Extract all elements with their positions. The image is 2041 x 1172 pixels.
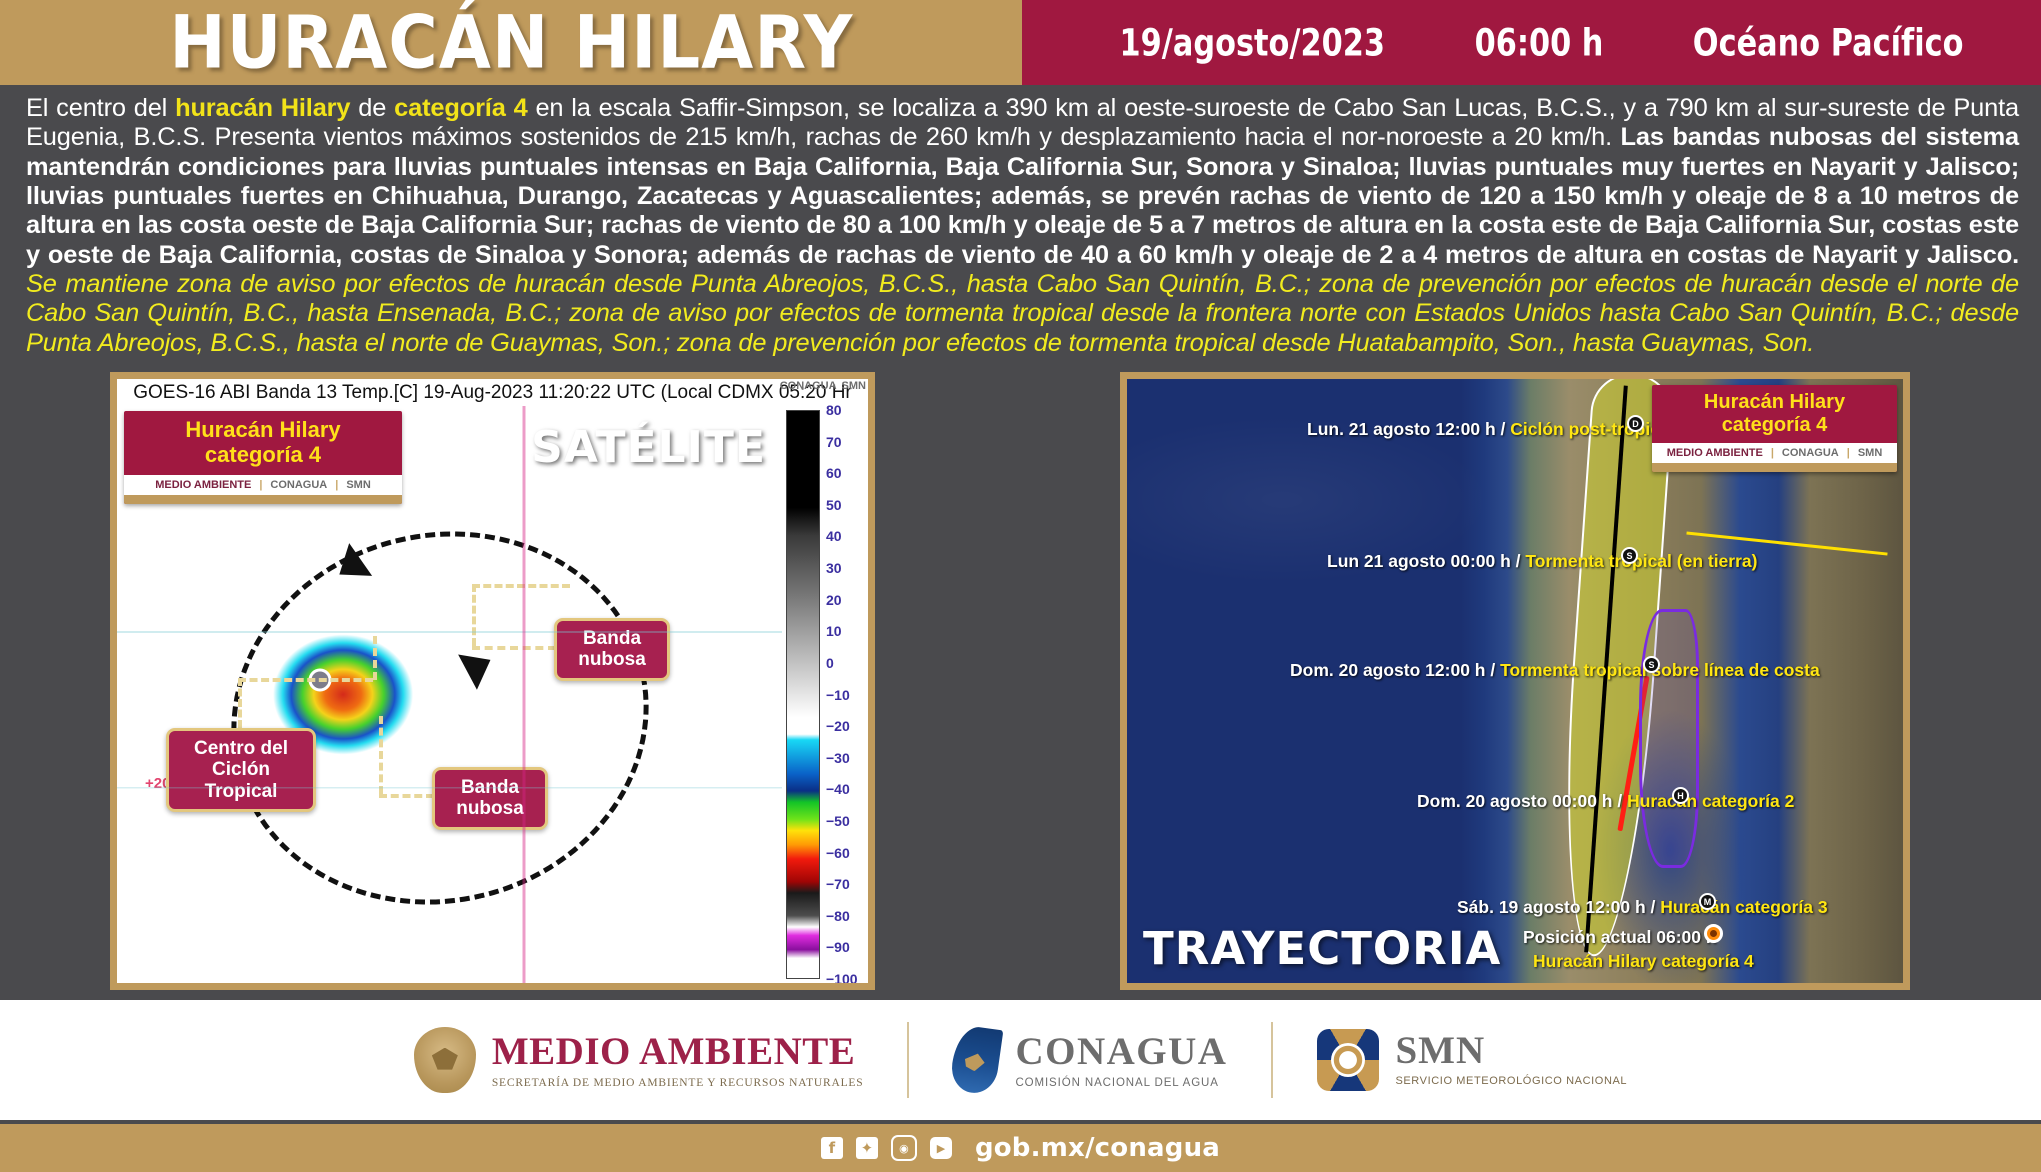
colorbar-tick: 50 — [826, 497, 842, 513]
current-position-label: Posición actual 06:00 h — [1523, 927, 1717, 948]
forecast-marker-3[interactable]: H — [1672, 787, 1689, 804]
bulletin-category: categoría 4 — [394, 94, 527, 122]
traj-badge-divider-1: | — [1771, 447, 1774, 459]
satellite-badge-line2: categoría 4 — [128, 443, 398, 468]
colorbar-tick: 0 — [826, 655, 834, 671]
colorbar-tick: −70 — [826, 876, 850, 892]
forecast-status-1: Tormenta tropical (en tierra) — [1525, 551, 1757, 571]
forecast-status-3: Huracán categoría 2 — [1627, 791, 1794, 811]
satellite-badge-line1: Huracán Hilary — [128, 418, 398, 443]
traj-badge-logo-smn: SMN — [1858, 447, 1882, 459]
colorbar-tick: −40 — [826, 781, 850, 797]
leader-centro-vertical — [238, 678, 242, 728]
smn-title: SMN — [1395, 1031, 1627, 1070]
website-url[interactable]: gob.mx/conagua — [975, 1133, 1220, 1163]
temperature-colorbar: 80706050403020100−10−20−30−40−50−60−70−8… — [782, 406, 868, 983]
bulletin-warning-zones: Se mantiene zona de aviso por efectos de… — [26, 270, 2019, 357]
forecast-time-3: Dom. 20 agosto 00:00 h / — [1417, 791, 1627, 811]
satellite-title-text: GOES-16 ABI Banda 13 Temp.[C] 19-Aug-202… — [133, 382, 852, 404]
leader-centro-riser — [373, 636, 377, 680]
badge-footer-strip — [124, 495, 402, 504]
header-basin: Océano Pacífico — [1692, 21, 1963, 65]
colorbar-tick: 20 — [826, 592, 842, 608]
current-position-status: Huracán Hilary categoría 4 — [1533, 951, 1754, 971]
forecast-time-1: Lun 21 agosto 00:00 h / — [1327, 551, 1525, 571]
bulletin-intro: El centro del — [26, 94, 175, 122]
youtube-icon[interactable]: ▶ — [930, 1137, 952, 1159]
logo-divider-1 — [907, 1022, 909, 1098]
warning-zone-purple — [1639, 609, 1699, 869]
smn-spiral-icon — [1317, 1029, 1379, 1091]
badge-logo-divider-2: | — [335, 479, 338, 491]
conagua-small-logo: CONAGUA — [780, 380, 837, 392]
callout-cyclone-center: Centro del Ciclón Tropical — [166, 728, 316, 812]
colorbar-tick: 30 — [826, 560, 842, 576]
conagua-title: CONAGUA — [1015, 1032, 1227, 1071]
satellite-titlebar: GOES-16 ABI Banda 13 Temp.[C] 19-Aug-202… — [117, 379, 868, 406]
forecast-marker-1[interactable]: S — [1621, 547, 1638, 564]
twitter-icon[interactable]: ✦ — [856, 1137, 878, 1159]
header-date: 19/agosto/2023 — [1120, 21, 1385, 65]
satellite-badge-logos: MEDIO AMBIENTE | CONAGUA | SMN — [124, 475, 402, 495]
medio-ambiente-title: MEDIO AMBIENTE — [492, 1032, 864, 1071]
traj-badge-divider-2: | — [1847, 447, 1850, 459]
traj-badge-logo-conagua: CONAGUA — [1782, 447, 1839, 459]
colorbar-tick: −10 — [826, 687, 850, 703]
header-time: 06:00 h — [1474, 21, 1603, 65]
satellite-ir-image[interactable]: SATÉLITE +20° Centro del Ciclón Tropical… — [117, 406, 782, 983]
forecast-label-2: Dom. 20 agosto 12:00 h / Tormenta tropic… — [1290, 660, 1820, 681]
traj-badge-footer-strip — [1652, 463, 1897, 472]
leader-banda1-left — [472, 584, 476, 646]
satellite-badge-text: Huracán Hilary categoría 4 — [124, 411, 402, 475]
traj-badge-logo-medio-ambiente: MEDIO AMBIENTE — [1667, 447, 1763, 459]
satellite-storm-badge: Huracán Hilary categoría 4 MEDIO AMBIENT… — [124, 411, 402, 504]
satellite-watermark: SATÉLITE — [531, 422, 766, 473]
colorbar-tick: −100 — [826, 971, 858, 987]
page-header: HURACÁN HILARY 19/agosto/2023 06:00 h Oc… — [0, 0, 2041, 85]
logo-conagua: CONAGUA COMISIÓN NACIONAL DEL AGUA — [953, 1027, 1227, 1093]
leader-banda2-bottom — [379, 794, 434, 798]
badge-logo-divider-1: | — [259, 479, 262, 491]
trajectory-storm-badge: Huracán Hilary categoría 4 MEDIO AMBIENT… — [1652, 385, 1897, 472]
satellite-corner-logos: CONAGUA SMN — [780, 380, 866, 392]
conagua-text: CONAGUA COMISIÓN NACIONAL DEL AGUA — [1015, 1032, 1227, 1089]
colorbar-tick: −30 — [826, 750, 850, 766]
current-position-status-label: Huracán Hilary categoría 4 — [1533, 951, 1754, 972]
colorbar-tick: 60 — [826, 465, 842, 481]
logo-smn: SMN SERVICIO METEOROLÓGICO NACIONAL — [1317, 1029, 1627, 1091]
colorbar-tick: 70 — [826, 434, 842, 450]
bulletin-text: El centro del huracán Hilary de categorí… — [0, 85, 2041, 362]
callout-cloud-band-2: Banda nubosa — [432, 767, 548, 830]
smn-small-logo: SMN — [842, 380, 866, 392]
colorbar-tick: −90 — [826, 939, 850, 955]
satellite-panel[interactable]: GOES-16 ABI Banda 13 Temp.[C] 19-Aug-202… — [110, 372, 875, 990]
social-bottom-bar: f ✦ ◉ ▶ gob.mx/conagua — [0, 1124, 2041, 1172]
medio-ambiente-text: MEDIO AMBIENTE SECRETARÍA DE MEDIO AMBIE… — [492, 1032, 864, 1089]
facebook-icon[interactable]: f — [821, 1137, 843, 1159]
satellite-body: SATÉLITE +20° Centro del Ciclón Tropical… — [117, 406, 868, 983]
page-title: HURACÁN HILARY — [169, 0, 853, 85]
forecast-marker-4[interactable]: M — [1699, 893, 1716, 910]
current-position-time: Posición actual 06:00 h — [1523, 927, 1717, 947]
trajectory-badge-line1: Huracán Hilary — [1656, 391, 1893, 414]
conagua-eagle-water-icon — [949, 1024, 1004, 1096]
current-position-marker[interactable] — [1704, 924, 1723, 943]
panels-row: GOES-16 ABI Banda 13 Temp.[C] 19-Aug-202… — [0, 372, 2041, 992]
callout-cloud-band-1: Banda nubosa — [554, 618, 670, 681]
colorbar-tick: 80 — [826, 402, 842, 418]
forecast-status-4: Huracán categoría 3 — [1660, 897, 1827, 917]
colorbar-tick: −60 — [826, 845, 850, 861]
forecast-marker-2[interactable]: S — [1643, 656, 1660, 673]
mexico-coat-of-arms-icon — [414, 1027, 476, 1093]
bulletin-storm-name: huracán Hilary — [175, 94, 350, 122]
colorbar-tick-labels: 80706050403020100−10−20−30−40−50−60−70−8… — [824, 410, 868, 979]
forecast-marker-0[interactable]: D — [1627, 415, 1644, 432]
colorbar-tick: 10 — [826, 623, 842, 639]
forecast-time-0: Lun. 21 agosto 12:00 h / — [1307, 419, 1510, 439]
trajectory-map-image[interactable]: Lun. 21 agosto 12:00 h / Ciclón post-tro… — [1127, 379, 1903, 983]
conagua-subtitle: COMISIÓN NACIONAL DEL AGUA — [1015, 1077, 1227, 1089]
colorbar-tick: 40 — [826, 528, 842, 544]
leader-banda1-bottom — [472, 646, 556, 650]
forecast-time-2: Dom. 20 agosto 12:00 h / — [1290, 660, 1500, 680]
badge-logo-medio-ambiente: MEDIO AMBIENTE — [155, 479, 251, 491]
bulletin-of: de — [350, 94, 394, 122]
colorbar-tick: −20 — [826, 718, 850, 734]
trajectory-badge-text: Huracán Hilary categoría 4 — [1652, 385, 1897, 443]
logo-medio-ambiente: MEDIO AMBIENTE SECRETARÍA DE MEDIO AMBIE… — [414, 1027, 864, 1093]
instagram-icon[interactable]: ◉ — [891, 1135, 917, 1161]
leader-banda2-left — [379, 716, 383, 794]
colorbar-gradient — [786, 410, 820, 979]
smn-subtitle: SERVICIO METEOROLÓGICO NACIONAL — [1395, 1074, 1627, 1089]
header-title-band: HURACÁN HILARY — [0, 0, 1022, 85]
trajectory-badge-line2: categoría 4 — [1656, 414, 1893, 437]
trajectory-watermark: TRAYECTORIA — [1143, 922, 1501, 975]
trajectory-panel[interactable]: Lun. 21 agosto 12:00 h / Ciclón post-tro… — [1120, 372, 1910, 990]
circulation-outline — [192, 488, 689, 949]
logo-divider-2 — [1271, 1022, 1273, 1098]
medio-ambiente-subtitle: SECRETARÍA DE MEDIO AMBIENTE Y RECURSOS … — [492, 1077, 864, 1089]
forecast-label-3: Dom. 20 agosto 00:00 h / Huracán categor… — [1417, 791, 1794, 812]
header-meta-band: 19/agosto/2023 06:00 h Océano Pacífico — [1022, 0, 2041, 85]
forecast-time-4: Sáb. 19 agosto 12:00 h / — [1457, 897, 1660, 917]
leader-banda1-top — [472, 584, 570, 588]
badge-logo-smn: SMN — [346, 479, 370, 491]
colorbar-tick: −80 — [826, 908, 850, 924]
institutional-logo-strip: MEDIO AMBIENTE SECRETARÍA DE MEDIO AMBIE… — [0, 1000, 2041, 1120]
colorbar-tick: −50 — [826, 813, 850, 829]
leader-centro-horizontal — [238, 678, 373, 682]
forecast-label-1: Lun 21 agosto 00:00 h / Tormenta tropica… — [1327, 551, 1757, 572]
forecast-label-4: Sáb. 19 agosto 12:00 h / Huracán categor… — [1457, 897, 1828, 918]
smn-text: SMN SERVICIO METEOROLÓGICO NACIONAL — [1395, 1031, 1627, 1089]
badge-logo-conagua: CONAGUA — [270, 479, 327, 491]
trajectory-badge-logos: MEDIO AMBIENTE | CONAGUA | SMN — [1652, 443, 1897, 463]
